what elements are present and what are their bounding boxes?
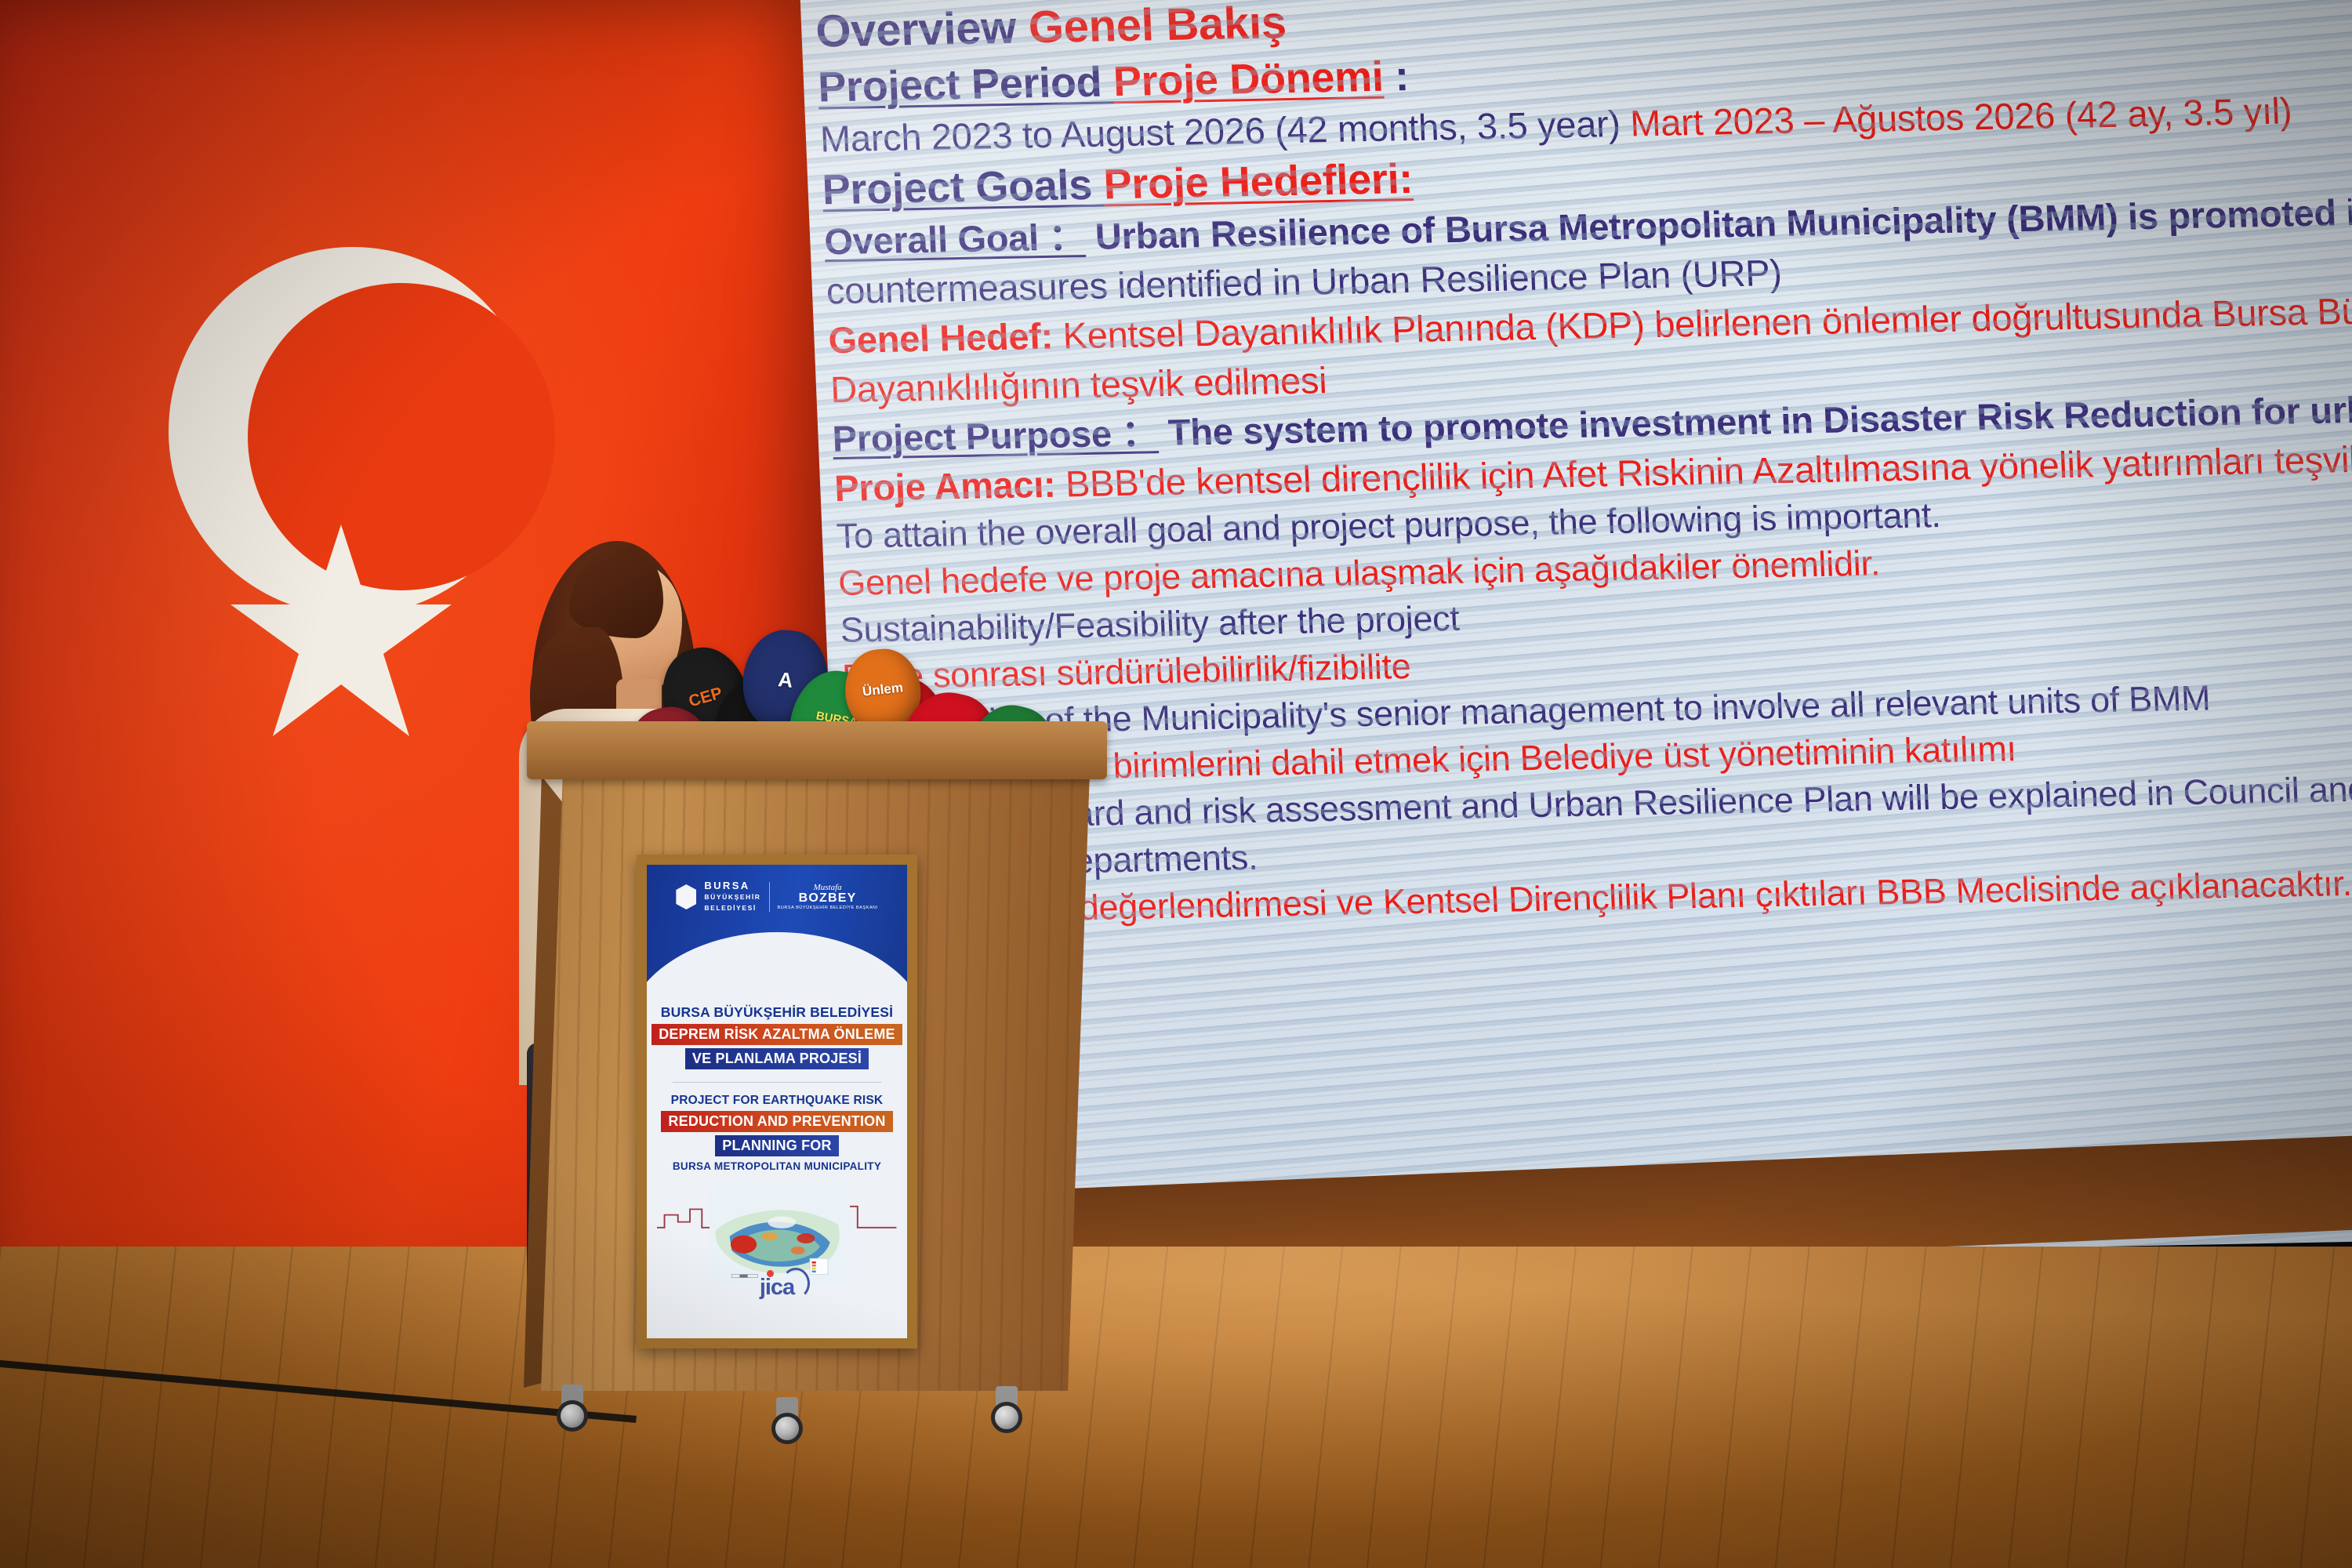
screenshot-stage: Overview Genel BakışProject Period Proje… [0, 0, 2352, 1568]
slide-text-run: Overview [815, 2, 1029, 56]
mayor-logo-block: Mustafa BOZBEY BURSA BÜYÜKŞEHİR BELEDİYE… [778, 884, 878, 911]
jica-arc-icon [782, 1268, 810, 1299]
sign-logo-divider [769, 882, 770, 912]
sign-en-line3: PLANNING FOR [715, 1135, 838, 1156]
podium-wheel-right [991, 1402, 1022, 1433]
sign-tr-line3: VE PLANLAMA PROJESİ [685, 1048, 869, 1069]
slide-text-run: Sustainability/Feasibility after the pro… [840, 598, 1461, 650]
logo-belediyesi: BELEDİYESİ [704, 902, 760, 913]
slide-text-run: Genel Hedef: [827, 315, 1053, 361]
slide-text-run: Project Goals [821, 162, 1104, 214]
slide-text-run: Proje Dönemi [1112, 53, 1385, 106]
podium: BURSA BÜYÜKŞEHİR BELEDİYESİ Mustafa BOZB… [541, 721, 1090, 1443]
logo-buyuksehir: BÜYÜKŞEHİR [704, 891, 760, 902]
jica-dot-icon [767, 1270, 774, 1277]
sign-text-block: BURSA BÜYÜKŞEHİR BELEDİYESİ DEPREM RİSK … [647, 1004, 907, 1172]
podium-wheel-left [557, 1400, 588, 1432]
sign-tr-line2: DEPREM RİSK AZALTMA ÖNLEME [652, 1024, 902, 1045]
sign-graphic-area: jica [647, 1164, 907, 1305]
slide-text-run: Genel Bakış [1027, 0, 1287, 53]
podium-wheel-mid [771, 1413, 803, 1444]
slide-text-run: Project Purpose ： [832, 412, 1160, 459]
jica-wordmark: jica [760, 1275, 794, 1301]
slide-text-run: : [1382, 53, 1410, 100]
sign-tr-line1: BURSA BÜYÜKŞEHİR BELEDİYESİ [647, 1004, 907, 1021]
sign-logo-row: BURSA BÜYÜKŞEHİR BELEDİYESİ Mustafa BOZB… [647, 880, 907, 913]
slide-text-run: Mart 2023 – Ağustos 2026 (42 ay, 3.5 yıl… [1629, 89, 2292, 143]
podium-project-sign: BURSA BÜYÜKŞEHİR BELEDİYESİ Mustafa BOZB… [637, 855, 917, 1348]
slide-text-run: Project Period [817, 58, 1114, 111]
municipality-logo-text: BURSA BÜYÜKŞEHİR BELEDİYESİ [704, 880, 760, 913]
sign-en-line2: REDUCTION AND PREVENTION [661, 1111, 892, 1132]
mayor-title: BURSA BÜYÜKŞEHİR BELEDİYE BAŞKANI [778, 906, 878, 911]
sign-en-line1: PROJECT FOR EARTHQUAKE RISK [647, 1094, 907, 1108]
slide-text-run: Proje Hedefleri: [1102, 155, 1414, 209]
slide-text-run: Dayanıklılığının teşvik edilmesi [829, 359, 1327, 410]
slide-text-run: Overall Goal ： [823, 216, 1086, 262]
bursa-municipality-seal-icon [676, 884, 696, 909]
mayor-name: BOZBEY [778, 892, 878, 905]
slide-text-run: Proje Amacı: [833, 463, 1056, 509]
podium-top-surface [527, 721, 1107, 779]
logo-bursa: BURSA [704, 880, 750, 891]
sign-divider-rule [673, 1082, 881, 1083]
flag-star-icon [223, 517, 459, 757]
slide-text-run: in line with [2336, 188, 2352, 233]
jica-logo: jica [647, 1275, 907, 1301]
